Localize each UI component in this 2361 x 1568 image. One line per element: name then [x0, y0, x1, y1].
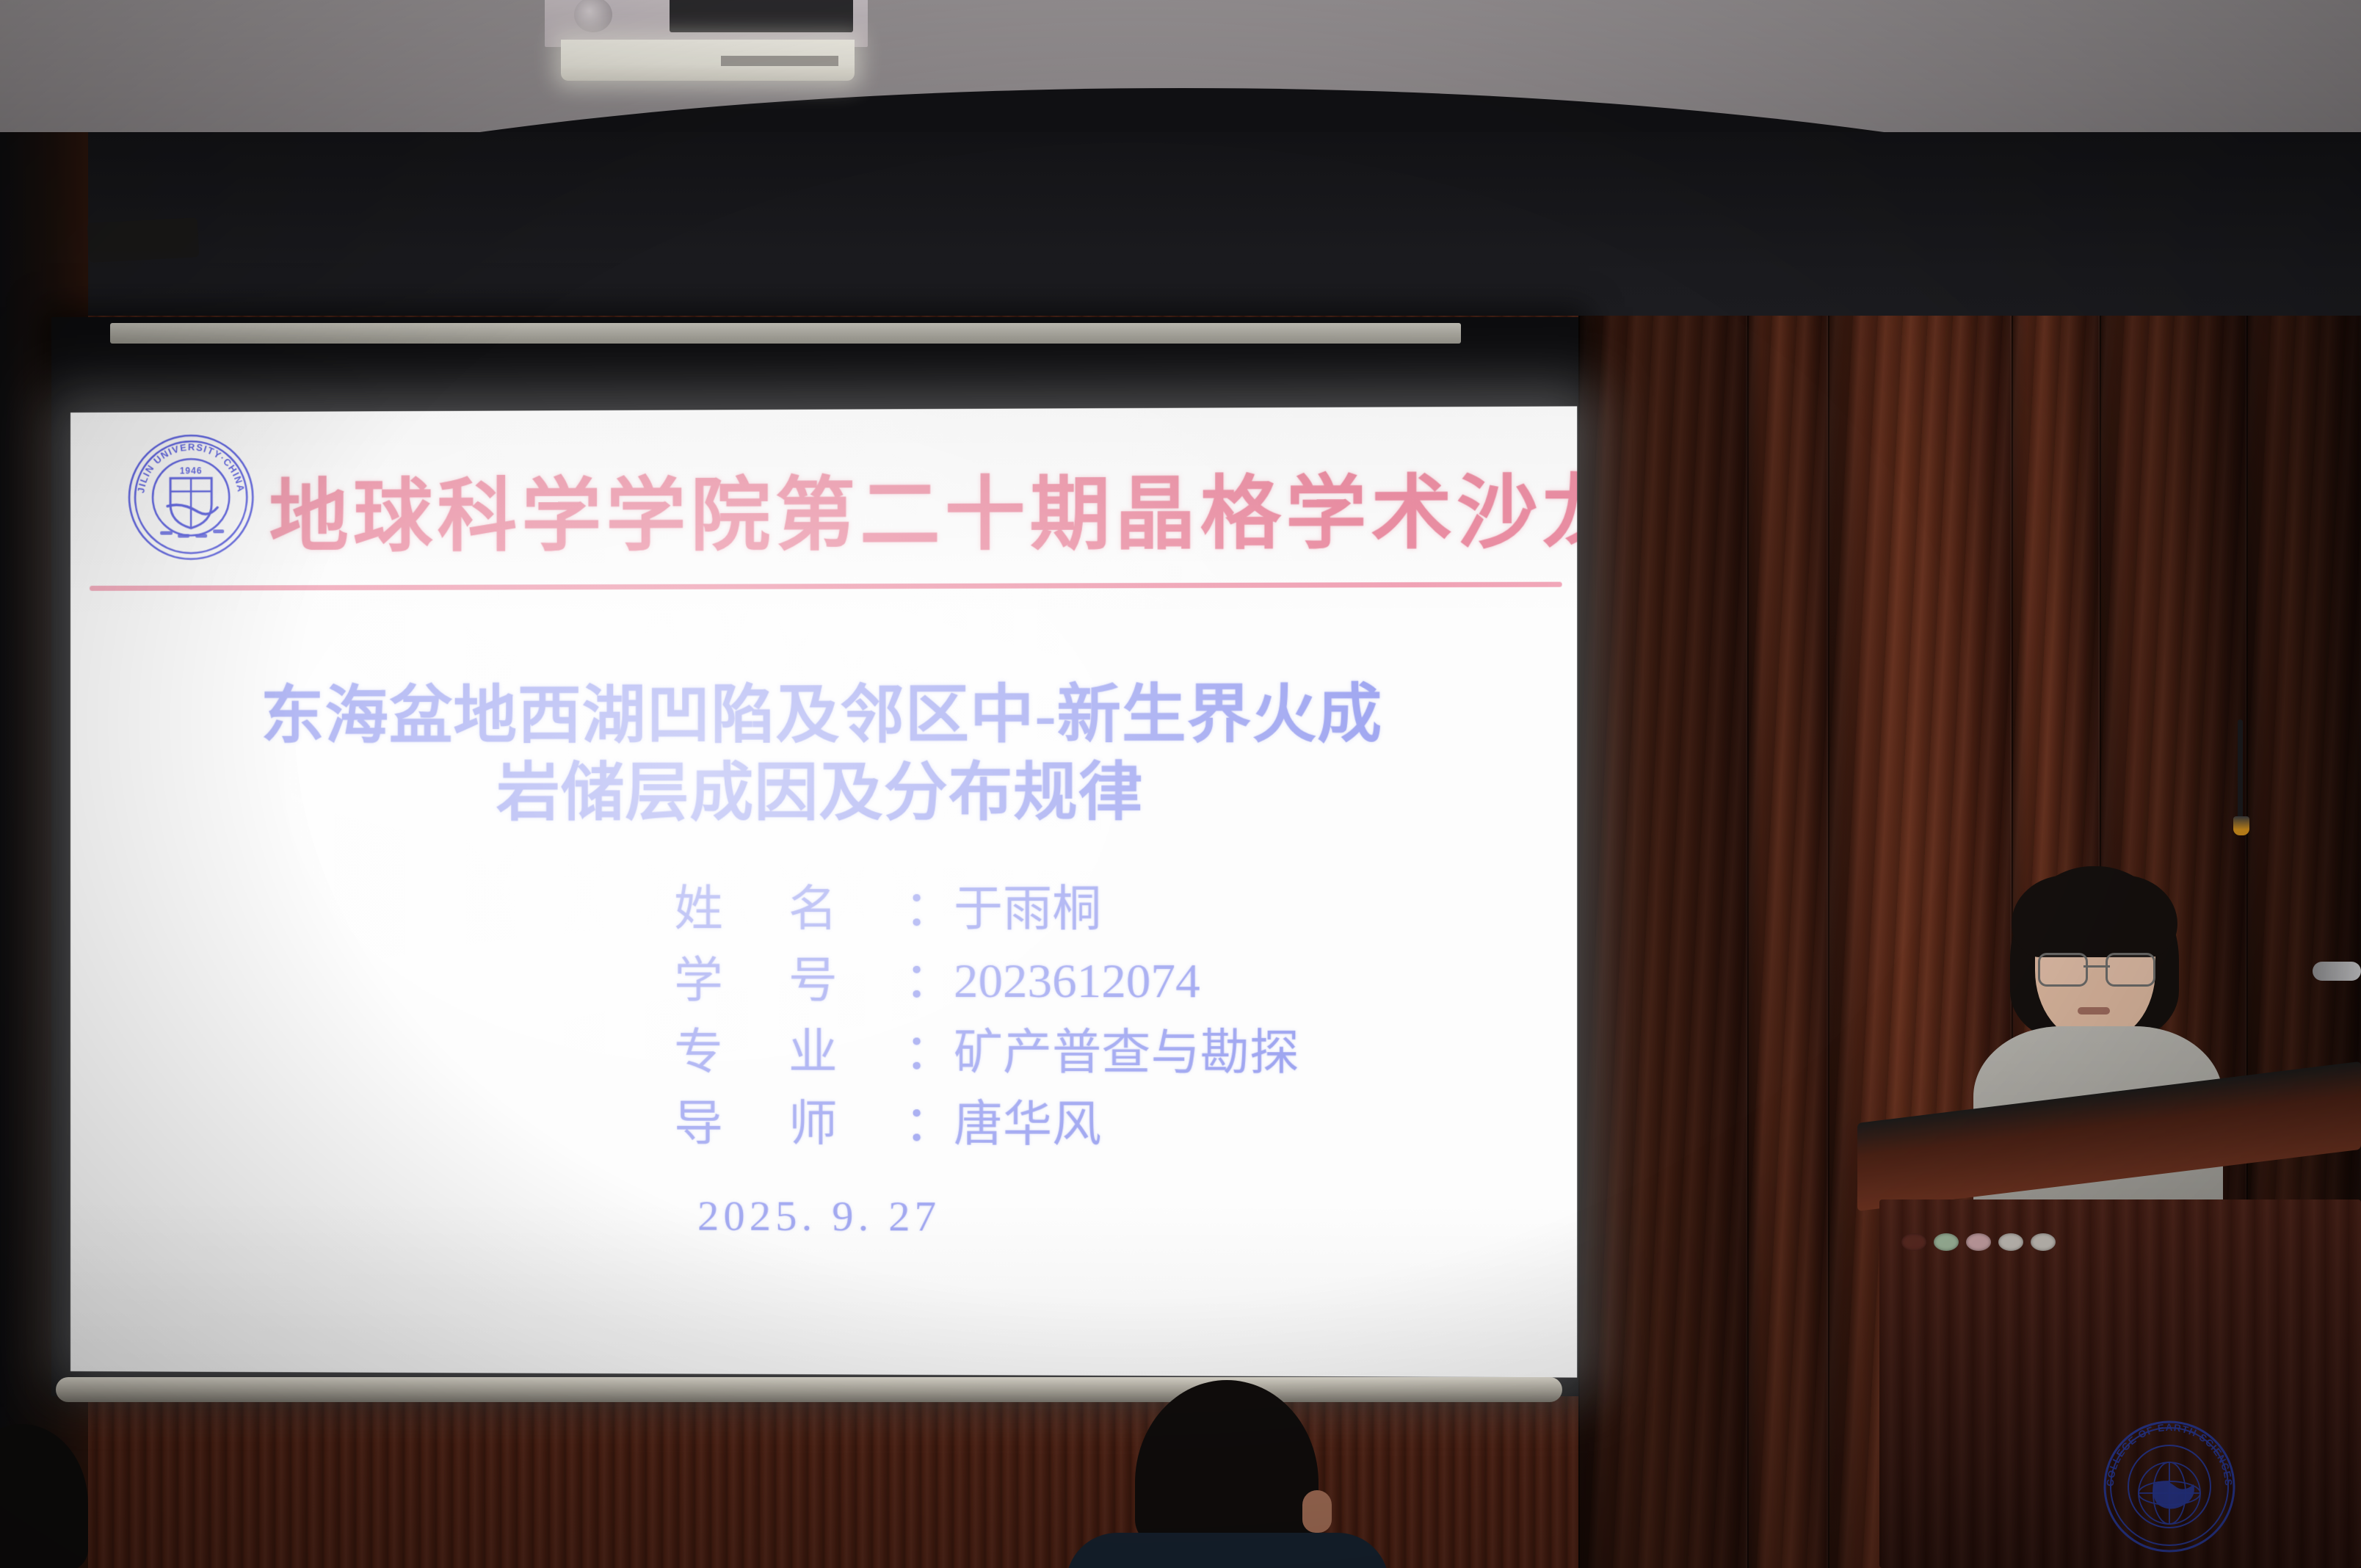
projector-label	[721, 56, 838, 66]
presenter-shirt-print	[87, 217, 200, 263]
glasses-bridge	[2083, 965, 2110, 968]
presentation-title-line2: 岩储层成因及分布规律	[70, 753, 1577, 832]
audience-left-head	[0, 1424, 88, 1568]
podium-button-1[interactable]	[1934, 1233, 1959, 1251]
presenter-mouth	[2078, 1007, 2110, 1015]
projector-ports	[670, 0, 853, 32]
podium-button-4[interactable]	[2031, 1233, 2056, 1251]
info-value-advisor: 唐华风	[954, 1089, 1101, 1161]
lecture-hall-scene: JILIN UNIVERSITY·CHINA 1946 地球科学学院第二十期晶格…	[0, 0, 2361, 1568]
presentation-title-line1: 东海盆地西湖凹陷及邻区中-新生界火成	[261, 679, 1382, 752]
podium-button-2[interactable]	[1966, 1233, 1991, 1251]
info-separator-name: ：	[904, 874, 954, 945]
slide-header: JILIN UNIVERSITY·CHINA 1946 地球科学学院第二十期晶格…	[70, 406, 1577, 609]
info-separator-major: ：	[904, 1017, 954, 1089]
podium-button-3[interactable]	[1998, 1233, 2023, 1251]
info-separator-advisor: ：	[904, 1089, 954, 1161]
salon-title: 地球科学学院第二十期晶格学术沙龙	[269, 448, 1520, 567]
slide-body: 东海盆地西湖凹陷及邻区中-新生界火成 岩储层成因及分布规律 姓名 ： 于雨桐 学…	[70, 606, 1577, 1378]
presenter-info-block: 姓名 ： 于雨桐 学号 ： 2023612074 专业 ： 矿产普查与勘探 导师…	[674, 874, 1495, 1162]
microphone-cable	[2238, 719, 2243, 822]
glasses-icon	[2038, 953, 2155, 982]
jilin-university-logo-icon: JILIN UNIVERSITY·CHINA 1946	[125, 431, 257, 564]
info-row-advisor: 导师 ： 唐华风	[674, 1088, 1495, 1161]
presentation-title: 东海盆地西湖凹陷及邻区中-新生界火成 岩储层成因及分布规律	[70, 675, 1577, 832]
info-label-name: 姓名	[674, 874, 904, 945]
audience-center-ear	[1302, 1490, 1332, 1533]
presenter-fringe	[2012, 875, 2177, 957]
info-value-name: 于雨桐	[954, 874, 1101, 945]
info-value-major: 矿产普查与勘探	[954, 1017, 1299, 1089]
info-row-major: 专业 ： 矿产普查与勘探	[674, 1017, 1495, 1089]
glasses-right-lens	[2106, 953, 2155, 987]
ceiling-projector	[545, 0, 868, 81]
audience-center-head	[1135, 1380, 1319, 1549]
audience-head-center	[1117, 1380, 1338, 1568]
svg-text:1946: 1946	[180, 465, 203, 476]
info-row-name: 姓名 ： 于雨桐	[674, 874, 1495, 945]
podium: COLLEGE OF EARTH SCIENCES	[1857, 1123, 2361, 1568]
info-value-student-id: 2023612074	[954, 945, 1200, 1017]
info-label-advisor: 导师	[674, 1088, 904, 1160]
info-label-student-id: 学号	[674, 945, 904, 1017]
audience-head-left	[0, 1424, 117, 1568]
projected-slide: JILIN UNIVERSITY·CHINA 1946 地球科学学院第二十期晶格…	[70, 406, 1577, 1377]
audience-center-shoulders	[1066, 1533, 1389, 1568]
info-separator-student-id: ：	[904, 945, 954, 1017]
hanging-microphone-icon	[2227, 719, 2254, 852]
info-label-major: 专业	[674, 1017, 904, 1089]
screen-top-roller	[110, 323, 1461, 344]
podium-control-buttons[interactable]	[1901, 1233, 2056, 1251]
slide-date: 2025. 9. 27	[70, 1189, 1577, 1243]
college-of-earth-sciences-emblem-icon: COLLEGE OF EARTH SCIENCES	[2100, 1417, 2239, 1556]
podium-microphone-arm	[2313, 962, 2361, 981]
info-row-student-id: 学号 ： 2023612074	[674, 945, 1495, 1017]
header-divider-rule	[90, 582, 1562, 591]
podium-button-power[interactable]	[1901, 1233, 1926, 1251]
projector-lens-dial	[574, 0, 612, 32]
glasses-left-lens	[2038, 953, 2088, 987]
microphone-head	[2233, 816, 2249, 835]
